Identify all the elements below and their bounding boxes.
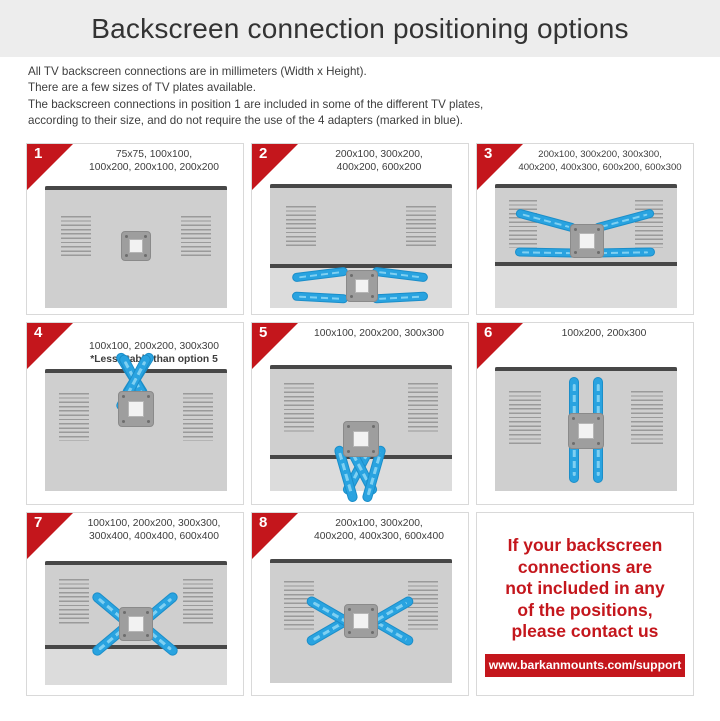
option-caption-3: 200x100, 300x200, 300x300, 400x200, 400x… [511,148,689,174]
mount-plate [344,604,378,638]
mount-plate [343,421,379,457]
tv-top-edge [270,559,452,563]
option-number-6: 6 [484,325,492,340]
tv-vent-right [408,581,438,631]
option-card-6[interactable]: 6 100x200, 200x300 [476,322,694,505]
option-number-3: 3 [484,146,492,161]
option-caption-5: 100x100, 200x200, 300x300 [294,327,464,340]
tv-body [45,186,227,308]
tv-top-edge [45,561,227,565]
base-top-edge [270,264,452,268]
option-caption-1: 75x75, 100x100, 100x200, 200x100, 200x20… [69,148,239,174]
option-caption-4-text: 100x100, 200x200, 300x300 [89,341,219,352]
mount-plate [346,270,378,302]
option-caption-2: 200x100, 300x200, 400x200, 600x200 [294,148,464,174]
base-top-edge [45,645,227,649]
tv-vent-right [408,383,438,433]
option-card-2[interactable]: 2 200x100, 300x200, 400x200, 600x200 [251,143,469,315]
option-number-7: 7 [34,515,42,530]
tv-vent-left [284,383,314,433]
tv-base [45,645,227,685]
mount-plate [570,224,604,258]
tv-body [270,184,452,264]
header-band: Backscreen connection positioning option… [0,0,720,57]
tv-vent-left [59,579,89,625]
base-top-edge [495,262,677,266]
option-card-5[interactable]: 5 100x100, 200x200, 300x300 [251,322,469,505]
tv-vent-right [183,579,213,625]
support-url-link[interactable]: www.barkanmounts.com/support [485,654,685,677]
option-badge-6: 6 [477,323,523,369]
option-number-2: 2 [259,146,267,161]
mount-plate [119,607,153,641]
option-card-4[interactable]: 4 100x100, 200x200, 300x300 *Less stable… [26,322,244,505]
option-number-8: 8 [259,515,267,530]
intro-line-2: There are a few sizes of TV plates avail… [28,80,688,96]
tv-vent-left [286,206,316,246]
tv-vent-right [406,206,436,246]
option-badge-5: 5 [252,323,298,369]
option-badge-8: 8 [252,513,298,559]
option-caption-7: 100x100, 200x200, 300x300, 300x400, 400x… [69,517,239,543]
intro-line-3: The backscreen connections in position 1… [28,97,688,113]
option-card-1[interactable]: 1 75x75, 100x100, 100x200, 200x100, 200x… [26,143,244,315]
option-card-7[interactable]: 7 100x100, 200x200, 300x300, 300x400, 40… [26,512,244,696]
option-card-3[interactable]: 3 200x100, 300x200, 300x300, 400x200, 40… [476,143,694,315]
intro-line-4: according to their size, and do not requ… [28,113,688,129]
option-caption-6: 100x200, 200x300 [519,327,689,340]
option-badge-2: 2 [252,144,298,190]
option-number-4: 4 [34,325,42,340]
option-caption-8: 200x100, 300x200, 400x200, 400x300, 600x… [294,517,464,543]
tv-base [495,262,677,308]
tv-vent-left [59,393,89,441]
tv-vent-left [61,216,91,258]
option-note-4: *Less stable than option 5 [69,353,239,366]
mount-plate [121,231,151,261]
option-badge-1: 1 [27,144,73,190]
option-badge-4: 4 [27,323,73,369]
adapter-arm [515,247,577,257]
tv-vent-left [509,391,541,445]
tv-vent-right [181,216,211,258]
option-card-8[interactable]: 8 200x100, 300x200, 400x200, 400x300, 60… [251,512,469,696]
tv-vent-right [635,200,663,248]
intro-paragraph: All TV backscreen connections are in mil… [28,64,688,130]
option-badge-3: 3 [477,144,523,190]
contact-message: If your backscreen connections are not i… [505,535,664,643]
poster-page: Backscreen connection positioning option… [0,0,720,721]
tv-vent-right [631,391,663,445]
contact-panel: If your backscreen connections are not i… [476,512,694,696]
mount-plate [118,391,154,427]
page-title: Backscreen connection positioning option… [91,13,628,45]
option-badge-7: 7 [27,513,73,559]
options-grid: 1 75x75, 100x100, 100x200, 200x100, 200x… [26,143,694,696]
tv-vent-right [183,393,213,441]
option-number-5: 5 [259,325,267,340]
mount-plate [568,413,604,449]
option-number-1: 1 [34,146,42,161]
intro-line-1: All TV backscreen connections are in mil… [28,64,688,80]
option-caption-4: 100x100, 200x200, 300x300 *Less stable t… [69,327,239,379]
tv-vent-left [509,200,537,248]
